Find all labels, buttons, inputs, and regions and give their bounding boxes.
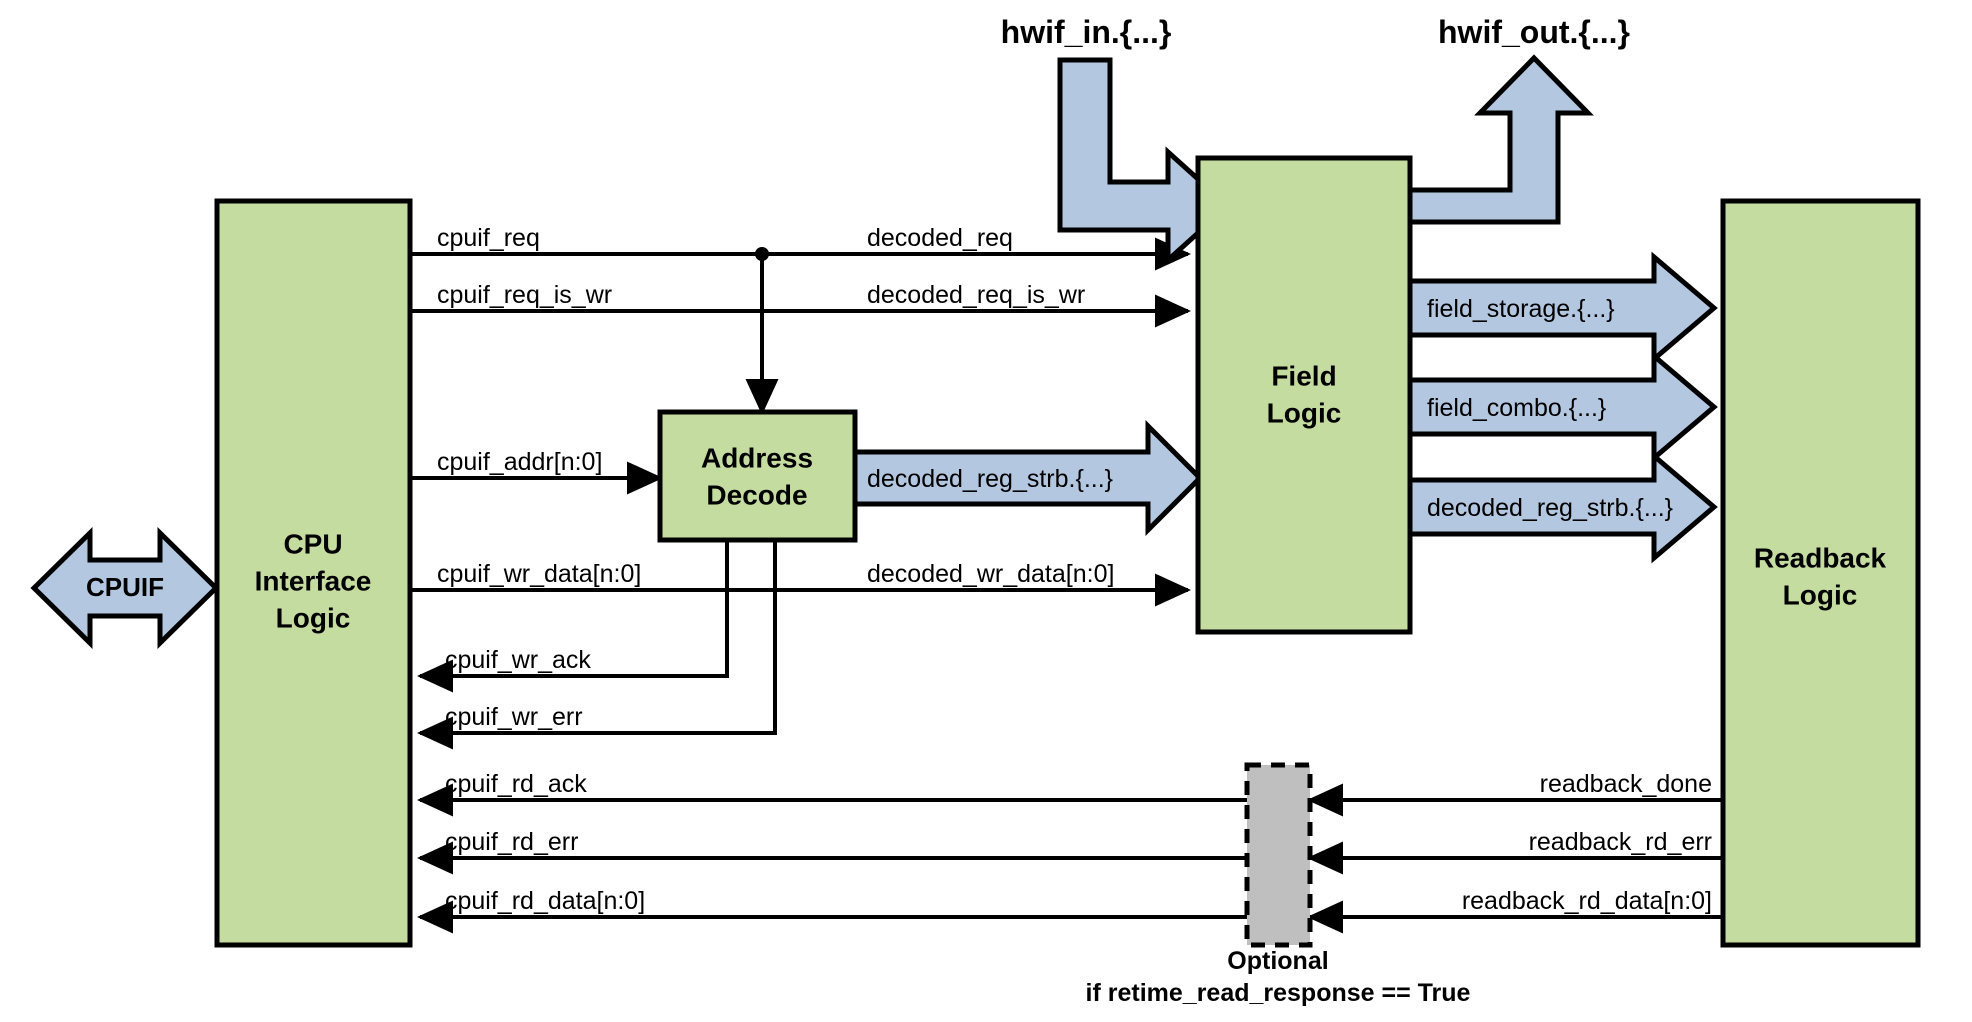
readback-logic-label-line1: Readback — [1754, 542, 1887, 573]
signal-label-cpuif-wr-err: cpuif_wr_err — [445, 703, 583, 731]
cpu-label-line3: Logic — [276, 602, 351, 633]
bus-arrow-hwif-out — [1410, 58, 1588, 222]
signal-label-cpuif-rd-ack: cpuif_rd_ack — [445, 770, 587, 798]
cpu-label-line1: CPU — [283, 528, 342, 559]
signal-label-cpuif-rd-err: cpuif_rd_err — [445, 828, 578, 856]
signal-label-readback-done: readback_done — [1540, 770, 1712, 798]
bus-label-cpuif: CPUIF — [86, 572, 164, 602]
signal-label-cpuif-addr: cpuif_addr[n:0] — [437, 448, 602, 476]
address-decode-label-line2: Decode — [706, 479, 807, 510]
signal-label-readback-rd-data: readback_rd_data[n:0] — [1462, 887, 1712, 915]
address-decode-label-line1: Address — [701, 442, 813, 473]
signal-label-decoded-wr-data: decoded_wr_data[n:0] — [867, 560, 1114, 588]
optional-label-line1: Optional — [1227, 947, 1328, 975]
block-optional-retime[interactable] — [1247, 765, 1310, 945]
cpu-label-line2: Interface — [255, 565, 372, 596]
signal-label-cpuif-req-is-wr: cpuif_req_is_wr — [437, 281, 612, 309]
signal-label-cpuif-req: cpuif_req — [437, 224, 540, 252]
bus-label-hwif-out: hwif_out.{...} — [1438, 14, 1630, 50]
bus-label-hwif-in: hwif_in.{...} — [1001, 14, 1172, 50]
signal-label-cpuif-rd-data: cpuif_rd_data[n:0] — [445, 887, 645, 915]
field-logic-label-line2: Logic — [1267, 397, 1342, 428]
block-address-decode[interactable] — [660, 412, 855, 540]
block-label-optional-retime: Optional if retime_read_response == True — [1086, 947, 1471, 1007]
architecture-diagram: CPU Interface Logic Address Decode Field… — [0, 0, 1972, 1022]
bus-label-decoded-reg-strb-readback: decoded_reg_strb.{...} — [1427, 494, 1673, 522]
signal-label-cpuif-wr-ack: cpuif_wr_ack — [445, 646, 591, 674]
signal-tap-req-to-address-decode — [755, 247, 769, 412]
signal-label-decoded-req-is-wr: decoded_req_is_wr — [867, 281, 1085, 309]
readback-logic-label-line2: Logic — [1783, 579, 1858, 610]
bus-label-field-storage: field_storage.{...} — [1427, 295, 1615, 323]
block-field-logic[interactable] — [1198, 158, 1410, 632]
bus-label-field-combo: field_combo.{...} — [1427, 394, 1606, 422]
signal-label-cpuif-wr-data: cpuif_wr_data[n:0] — [437, 560, 641, 588]
field-logic-label-line1: Field — [1271, 360, 1336, 391]
signal-label-decoded-req: decoded_req — [867, 224, 1013, 252]
bus-label-decoded-reg-strb-field: decoded_reg_strb.{...} — [867, 465, 1113, 493]
block-diagram-canvas: CPU Interface Logic Address Decode Field… — [0, 0, 1972, 1022]
signal-label-readback-rd-err: readback_rd_err — [1529, 828, 1712, 856]
optional-label-line2: if retime_read_response == True — [1086, 979, 1471, 1007]
